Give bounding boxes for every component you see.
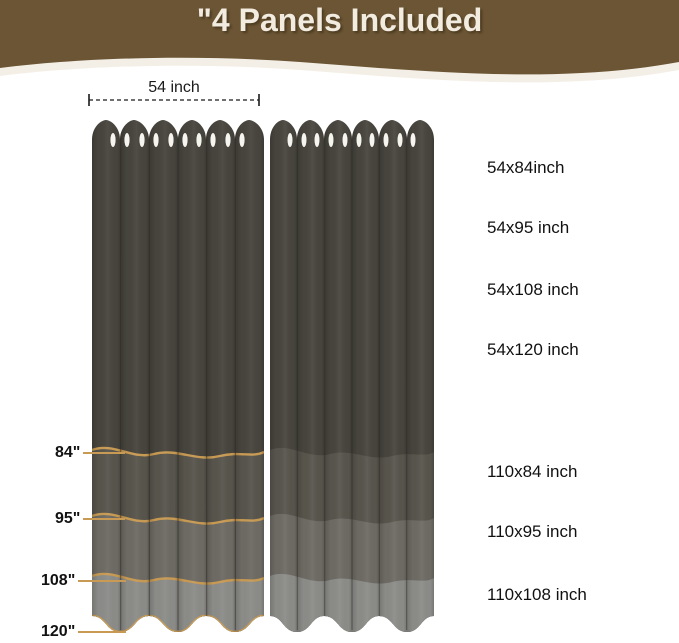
size-label-110x108: 110x108 inch	[487, 585, 587, 605]
height-marker-rule	[78, 580, 126, 582]
height-marker-label: 84"	[55, 444, 80, 462]
width-dimension-line	[88, 92, 260, 108]
size-label-54x95: 54x95 inch	[487, 218, 569, 238]
right-curtain	[270, 118, 434, 643]
height-marker-rule	[83, 518, 125, 520]
size-label-54x84: 54x84inch	[487, 158, 565, 178]
infographic-page: "4 Panels Included 54 inch	[0, 0, 679, 643]
height-marker-label: 120"	[41, 623, 75, 641]
size-label-110x95: 110x95 inch	[487, 522, 577, 542]
height-marker-label: 108"	[41, 572, 75, 590]
left-curtain-body	[92, 118, 264, 643]
height-marker-108: 108"	[41, 570, 126, 592]
height-marker-rule	[83, 452, 125, 454]
size-label-54x120: 54x120 inch	[487, 340, 579, 360]
height-marker-120: 120"	[41, 621, 126, 643]
height-marker-95: 95"	[55, 508, 125, 530]
page-title: "4 Panels Included	[0, 2, 679, 39]
left-curtain	[92, 118, 264, 643]
size-label-110x84: 110x84 inch	[487, 462, 577, 482]
right-curtain-body	[270, 118, 434, 643]
height-marker-label: 95"	[55, 510, 80, 528]
height-marker-84: 84"	[55, 442, 125, 464]
size-label-54x108: 54x108 inch	[487, 280, 579, 300]
height-marker-rule	[78, 631, 126, 633]
